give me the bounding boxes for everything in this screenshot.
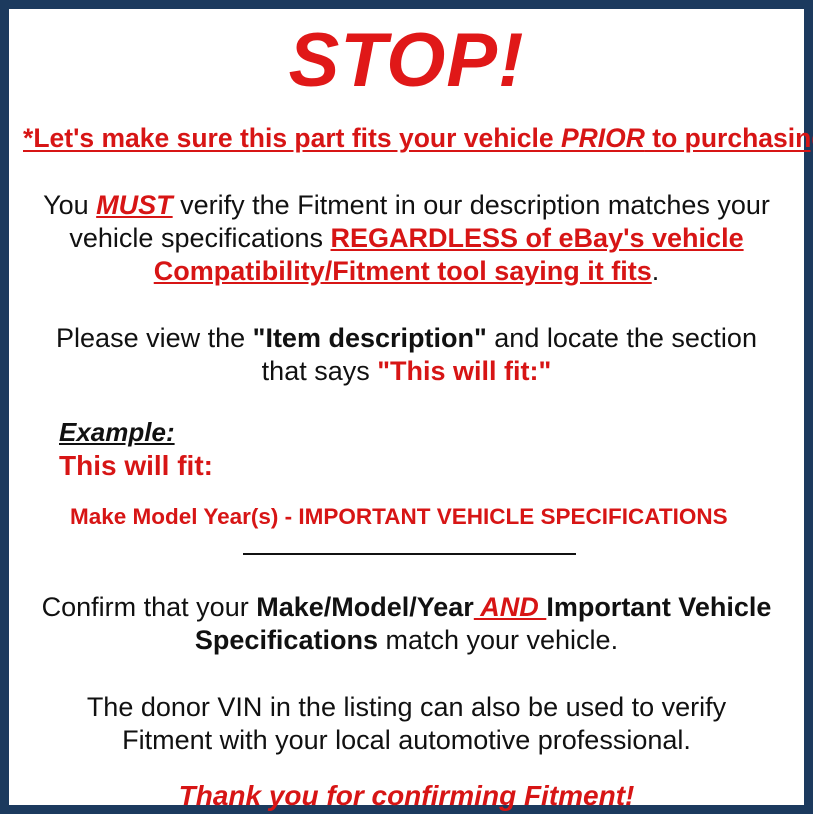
example-label: Example: [59,418,790,448]
section-divider [243,553,576,555]
paragraph-donor-vin: The donor VIN in the listing can also be… [23,691,790,757]
subtitle-lead: *Let's make sure this part fits your veh… [23,123,561,153]
example-spec-line: Make Model Year(s) - IMPORTANT VEHICLE S… [59,504,790,530]
divider-container [23,547,790,561]
p1-emphasis-must: MUST [96,190,173,220]
example-fit-heading: This will fit: [59,450,790,482]
p1-text-1: You [43,190,96,220]
p2-text-1: Please view the [56,323,253,353]
p2-emphasis-item-description: "Item description" [253,323,487,353]
subtitle-line: *Let's make sure this part fits your veh… [23,123,790,153]
closing-thank-you: Thank you for confirming Fitment! [23,779,790,813]
subtitle-emphasis-prior: PRIOR [561,123,645,153]
notice-content: STOP! *Let's make sure this part fits yo… [9,23,804,819]
p2-emphasis-this-will-fit: "This will fit:" [377,356,551,386]
paragraph-confirm-match: Confirm that your Make/Model/Year AND Im… [23,591,790,657]
fitment-notice-card: STOP! *Let's make sure this part fits yo… [0,0,813,814]
p3-text-1: Confirm that your [42,592,257,622]
subtitle-tail: to purchasing* [645,123,813,153]
p1-text-3: . [652,256,660,286]
paragraph-item-description: Please view the "Item description" and l… [23,322,790,388]
page-title: STOP! [23,23,790,99]
paragraph-verify-fitment: You MUST verify the Fitment in our descr… [23,189,790,288]
example-block: Example: This will fit: Make Model Year(… [23,418,790,530]
p3-text-2: match your vehicle. [378,625,618,655]
p3-emphasis-and: AND [474,592,547,622]
p3-emphasis-make-model-year: Make/Model/Year [256,592,474,622]
